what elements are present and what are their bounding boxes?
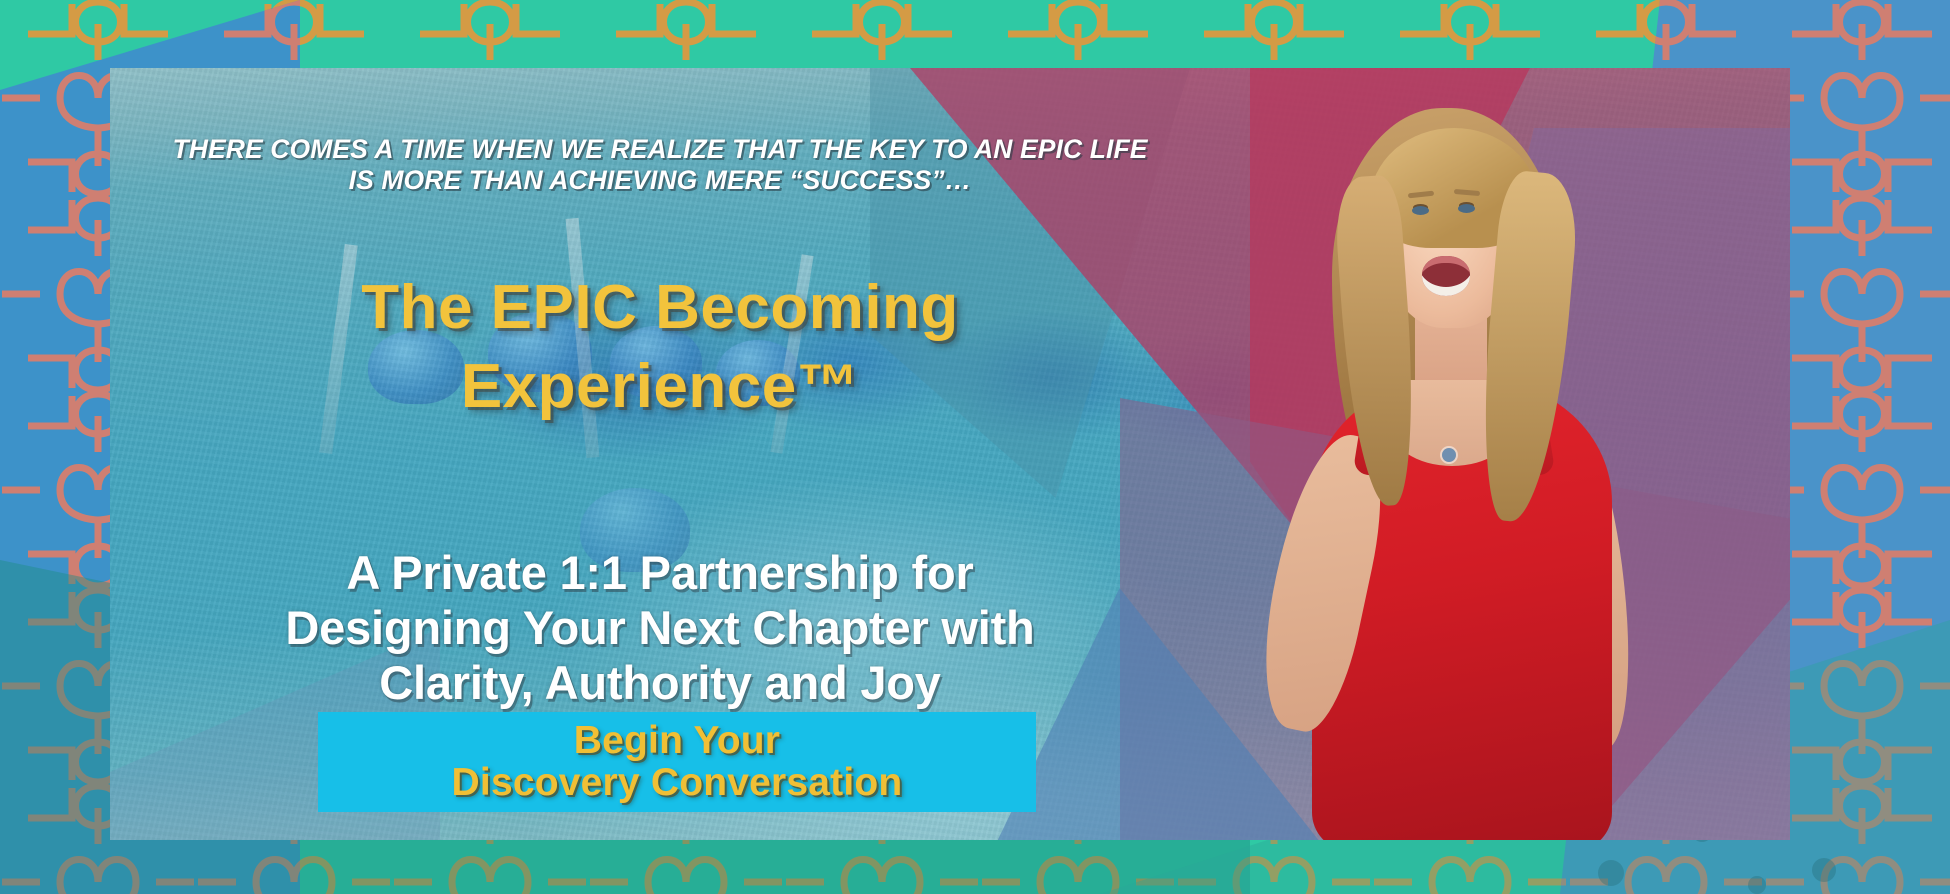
promo-stage: THERE COMES A TIME WHEN WE REALIZE THAT … [0,0,1950,894]
page-title: The EPIC Becoming Experience™ [150,268,1170,427]
kicker-headline: THERE COMES A TIME WHEN WE REALIZE THAT … [130,134,1190,195]
subheadline: A Private 1:1 Partnership for Designing … [130,546,1190,711]
begin-discovery-conversation-button[interactable]: Begin Your Discovery Conversation [318,712,1036,812]
cta-button-label: Begin Your Discovery Conversation [452,720,903,804]
promo-card: THERE COMES A TIME WHEN WE REALIZE THAT … [110,68,1790,840]
